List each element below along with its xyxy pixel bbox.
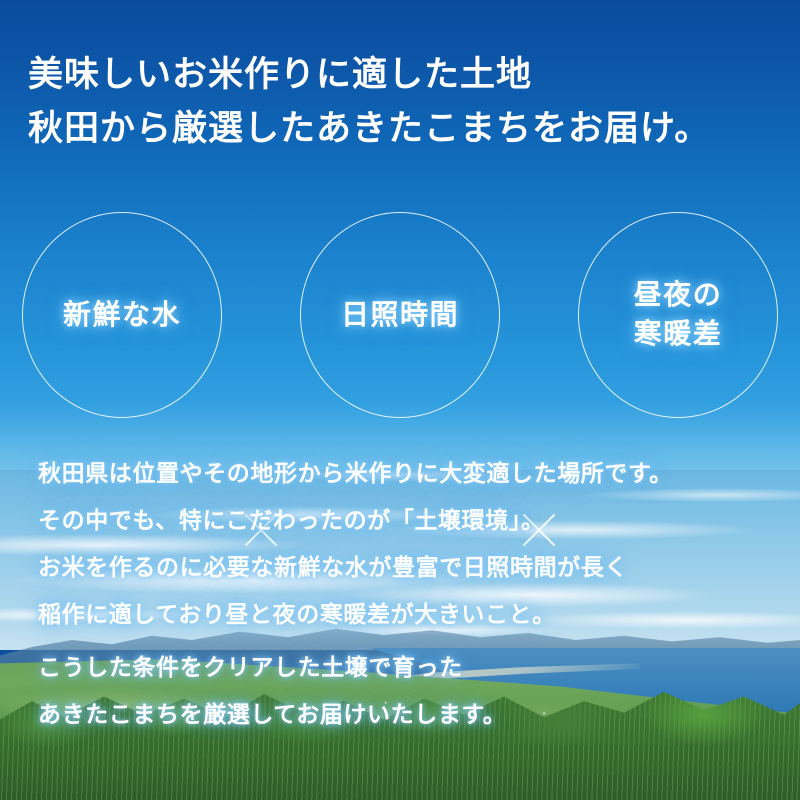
- feature-circle-label: 昼夜の 寒暖差: [634, 276, 723, 353]
- feature-label-line-1: 日照時間: [341, 296, 459, 335]
- body-line-4: 稲作に適しており昼と夜の寒暖差が大きいこと。: [38, 603, 778, 650]
- feature-circle-label: 新鮮な水: [63, 296, 181, 335]
- body-line-6: あきたこまちを厳選してお届けいたします。: [38, 703, 778, 750]
- body-line-3: お米を作るのに必要な新鮮な水が豊富で日照時間が長く: [38, 556, 778, 603]
- banner-content: 美味しいお米作りに適した土地 秋田から厳選したあきたこまちをお届け。 新鮮な水 …: [0, 0, 800, 800]
- feature-circles-row: 新鮮な水 日照時間 昼夜の 寒暖差: [0, 212, 800, 420]
- feature-label-line-1: 新鮮な水: [63, 296, 181, 335]
- feature-label-line-1: 昼夜の: [634, 276, 723, 315]
- body-copy: 秋田県は位置やその地形から米作りに大変適した場所です。 その中でも、特にこだわっ…: [38, 462, 778, 750]
- feature-circle-label: 日照時間: [341, 296, 459, 335]
- body-line-5: こうした条件をクリアした土壌で育った: [38, 656, 778, 703]
- headline: 美味しいお米作りに適した土地 秋田から厳選したあきたこまちをお届け。: [28, 48, 772, 157]
- body-line-2: その中でも、特にこだわったのが「土壌環境」。: [38, 509, 778, 556]
- headline-line-2: 秋田から厳選したあきたこまちをお届け。: [28, 102, 772, 156]
- body-line-1: 秋田県は位置やその地形から米作りに大変適した場所です。: [38, 462, 778, 509]
- rice-promo-banner: 美味しいお米作りに適した土地 秋田から厳選したあきたこまちをお届け。 新鮮な水 …: [0, 0, 800, 800]
- headline-line-1: 美味しいお米作りに適した土地: [28, 48, 772, 102]
- feature-label-line-2: 寒暖差: [634, 315, 723, 354]
- feature-circle-temperature-range: 昼夜の 寒暖差: [578, 212, 778, 418]
- feature-circle-fresh-water: 新鮮な水: [22, 212, 222, 418]
- feature-circle-sunshine-hours: 日照時間: [300, 212, 500, 418]
